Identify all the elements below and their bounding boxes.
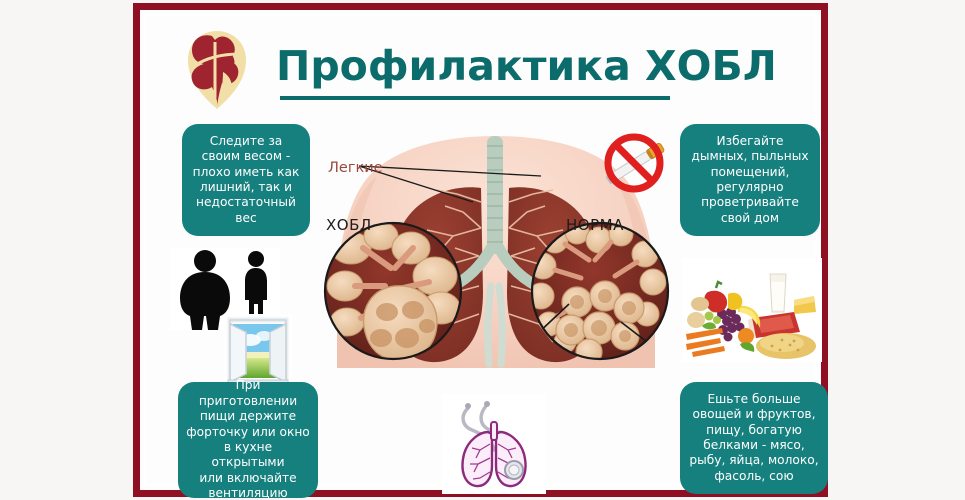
poster-frame-inner: Профилактика ХОБЛ: [144, 14, 817, 486]
callout-avoid-smoke-dust: Избегайте дымных, пыльных помещений, рег…: [680, 124, 820, 236]
callout-kitchen-ventilation: При приготовлении пищи держите форточку …: [178, 382, 318, 498]
label-normal: НОРМА: [566, 216, 624, 234]
no-smoking-icon: [601, 128, 673, 198]
callout-weight-control: Следите за своим весом - плохо иметь как…: [182, 124, 310, 236]
page-title: Профилактика ХОБЛ: [276, 38, 756, 100]
poster-frame: Профилактика ХОБЛ: [133, 3, 828, 497]
callout-healthy-diet: Ешьте больше овощей и фруктов, пищу, бог…: [680, 382, 828, 494]
stethoscope-lungs-icon: [442, 394, 546, 494]
label-copd: ХОБЛ: [326, 216, 372, 234]
lung-clover-logo: [182, 28, 252, 112]
healthy-food-photo: [682, 258, 822, 362]
title-underline: [280, 96, 670, 100]
infographic-page: Профилактика ХОБЛ: [0, 0, 965, 500]
label-lungs: Легкие: [328, 160, 383, 176]
open-window-icon: [224, 314, 292, 388]
